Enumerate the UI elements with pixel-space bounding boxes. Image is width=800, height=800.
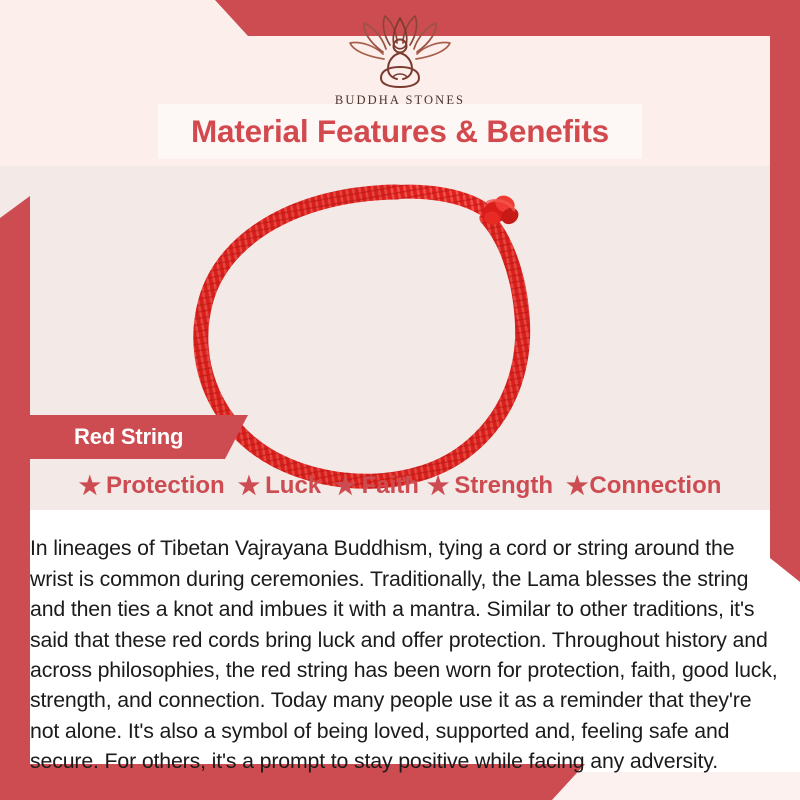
star-icon: ★ bbox=[566, 474, 588, 499]
material-ribbon: Red String bbox=[30, 415, 248, 459]
benefit-label: Connection bbox=[589, 472, 721, 500]
benefit-label: Protection bbox=[106, 472, 225, 500]
brand-logo: BUDDHA STONES bbox=[305, 14, 495, 108]
right-red-band bbox=[770, 34, 800, 582]
page-title-plate: Material Features & Benefits bbox=[158, 104, 642, 159]
page-title: Material Features & Benefits bbox=[191, 113, 609, 150]
benefit-label: Faith bbox=[362, 472, 419, 500]
benefit-strength: ★ Strength bbox=[427, 472, 553, 500]
benefit-protection: ★ Protection bbox=[79, 472, 225, 500]
benefit-luck: ★ Luck bbox=[238, 472, 321, 500]
benefits-row: ★ Protection ★ Luck ★ Faith ★ Strength ★… bbox=[30, 466, 770, 506]
description-text: In lineages of Tibetan Vajrayana Buddhis… bbox=[30, 533, 782, 776]
lotus-meditation-icon bbox=[345, 14, 455, 92]
infographic-poster: BUDDHA STONES Material Features & Benefi… bbox=[0, 0, 800, 800]
benefit-faith: ★ Faith bbox=[334, 472, 419, 500]
star-icon: ★ bbox=[79, 474, 101, 499]
left-red-band bbox=[0, 196, 30, 782]
benefit-label: Strength bbox=[454, 472, 553, 500]
benefit-connection: ★ Connection bbox=[566, 472, 721, 500]
star-icon: ★ bbox=[427, 474, 449, 499]
star-icon: ★ bbox=[238, 474, 260, 499]
material-label: Red String bbox=[30, 424, 183, 450]
benefit-label: Luck bbox=[265, 472, 321, 500]
star-icon: ★ bbox=[334, 474, 356, 499]
